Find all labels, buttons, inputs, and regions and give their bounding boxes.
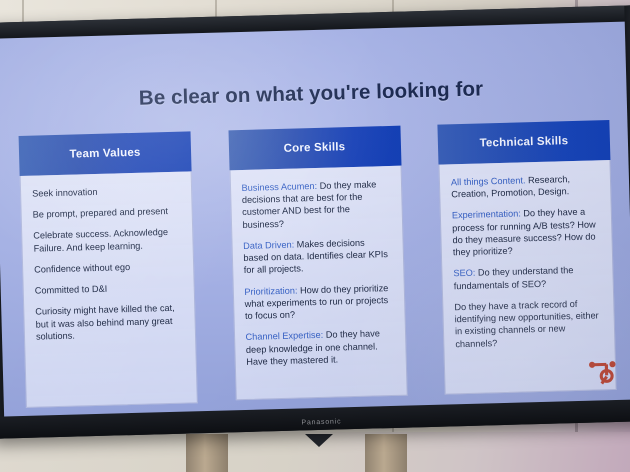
item-text: Confidence without ego: [34, 262, 130, 275]
display-monitor: Panasonic Be clear on what you're lookin…: [0, 5, 630, 439]
list-item: Seek innovation: [32, 184, 180, 200]
list-item: Curiosity might have killed the cat, but…: [35, 302, 184, 343]
item-text: Celebrate success. Acknowledge Failure. …: [33, 227, 168, 253]
display-stand-bracket: [305, 434, 333, 447]
display-stand-leg: [186, 434, 228, 472]
item-lead-in: Business Acumen:: [241, 181, 317, 193]
item-lead-in: Experimentation:: [452, 209, 521, 221]
item-lead-in: All things Content.: [451, 175, 526, 187]
slide-columns: Team Values Seek innovation Be prompt, p…: [19, 120, 617, 408]
column-body: Seek innovation Be prompt, prepared and …: [20, 171, 198, 408]
item-lead-in: SEO:: [453, 268, 475, 279]
list-item: Prioritization: How do they prioritize w…: [244, 282, 393, 323]
item-lead-in: Data Driven:: [243, 240, 294, 251]
hubspot-sprocket-icon: [586, 354, 621, 389]
item-lead-in: Prioritization:: [244, 285, 297, 296]
list-item: Confidence without ego: [34, 260, 182, 276]
item-text: Curiosity might have killed the cat, but…: [35, 303, 175, 341]
item-text: Be prompt, prepared and present: [33, 206, 169, 220]
list-item: Committed to D&I: [35, 281, 183, 297]
item-lead-in: Channel Expertise:: [245, 330, 323, 342]
list-item: Do they have a track record of identifyi…: [454, 297, 603, 350]
list-item: Celebrate success. Acknowledge Failure. …: [33, 226, 182, 254]
slide-title: Be clear on what you're looking for: [0, 74, 627, 115]
list-item: SEO: Do they understand the fundamentals…: [453, 264, 602, 292]
column-heading: Core Skills: [228, 126, 401, 171]
item-text: Do they have a track record of identifyi…: [454, 299, 599, 349]
column-core-skills: Core Skills Business Acumen: Do they mak…: [228, 126, 407, 403]
list-item: All things Content. Research, Creation, …: [451, 172, 600, 200]
column-team-values: Team Values Seek innovation Be prompt, p…: [19, 131, 198, 408]
list-item: Experimentation: Do they have a process …: [452, 206, 601, 259]
item-text: Seek innovation: [32, 187, 98, 199]
column-heading: Technical Skills: [437, 120, 610, 165]
display-stand-leg: [365, 434, 407, 472]
item-text: Committed to D&I: [35, 284, 108, 296]
list-item: Be prompt, prepared and present: [33, 205, 181, 221]
list-item: Channel Expertise: Do they have deep kno…: [245, 327, 394, 368]
presentation-slide: Be clear on what you're looking for Team…: [0, 22, 630, 417]
list-item: Business Acumen: Do they make decisions …: [241, 178, 390, 231]
photograph-of-presentation-screen: Panasonic Be clear on what you're lookin…: [0, 0, 630, 472]
list-item: Data Driven: Makes decisions based on da…: [243, 236, 392, 277]
column-body: Business Acumen: Do they make decisions …: [229, 166, 407, 401]
column-heading: Team Values: [19, 131, 192, 176]
